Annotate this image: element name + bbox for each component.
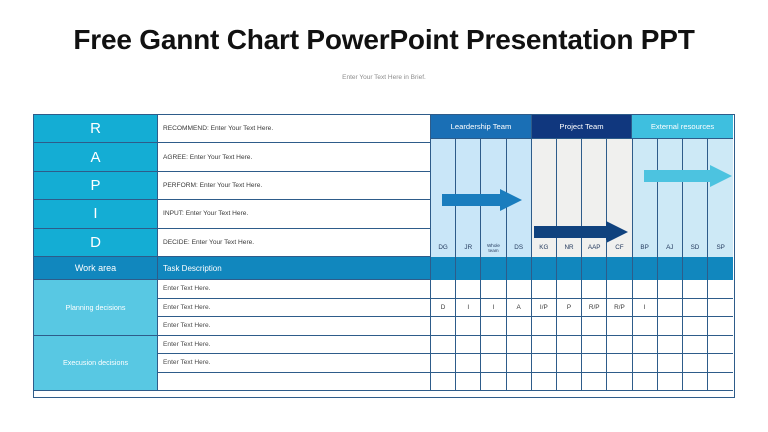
assignment-cell[interactable]: [456, 336, 481, 355]
assignment-cell[interactable]: [607, 280, 632, 299]
assignment-cell[interactable]: [582, 354, 607, 373]
assignment-cell[interactable]: [431, 280, 456, 299]
team-header-project: Project Team: [532, 115, 632, 139]
work-area-header-cell: [481, 257, 506, 280]
assignment-cell[interactable]: [582, 373, 607, 392]
assignment-cell[interactable]: I/P: [532, 299, 557, 318]
assignment-cell[interactable]: [633, 280, 658, 299]
task-row[interactable]: Enter Text Here.: [158, 280, 734, 299]
slide-canvas: Free Gannt Chart PowerPoint Presentation…: [0, 0, 768, 432]
work-area-header-cell: [582, 257, 607, 280]
member-initial-ds: DS: [507, 240, 532, 257]
assignment-cell[interactable]: [456, 373, 481, 392]
work-area-header-cell: [708, 257, 733, 280]
assignment-cell[interactable]: [582, 336, 607, 355]
work-area-header-cell: [683, 257, 708, 280]
assignment-cell[interactable]: [456, 280, 481, 299]
assignment-cell[interactable]: [658, 373, 683, 392]
rapid-letter-r: R: [34, 115, 158, 143]
assignment-cell[interactable]: [532, 336, 557, 355]
assignment-cell[interactable]: [633, 354, 658, 373]
rapid-letter-i: I: [34, 200, 158, 228]
assignment-cell[interactable]: [557, 317, 582, 336]
assignment-cell[interactable]: [607, 373, 632, 392]
assignment-cell[interactable]: [431, 317, 456, 336]
member-initial-aap: AAP: [582, 240, 607, 257]
work-area-header-cell: [557, 257, 582, 280]
assignment-cell[interactable]: [683, 299, 708, 318]
rapid-gantt-table: RRECOMMEND: Enter Your Text Here.AAGREE:…: [33, 114, 735, 398]
team-header-external-label: External resources: [651, 122, 714, 131]
work-area-header-cell: [607, 257, 632, 280]
assignment-cell[interactable]: [507, 373, 532, 392]
assignment-cell[interactable]: [708, 317, 733, 336]
task-description-cell[interactable]: [158, 373, 431, 392]
assignment-cell[interactable]: [683, 336, 708, 355]
member-initial-sd: SD: [683, 240, 708, 257]
rapid-description: PERFORM: Enter Your Text Here.: [158, 172, 431, 200]
rapid-description: AGREE: Enter Your Text Here.: [158, 143, 431, 171]
assignment-cell[interactable]: [708, 299, 733, 318]
rapid-description: RECOMMEND: Enter Your Text Here.: [158, 115, 431, 143]
assignment-cell[interactable]: [607, 317, 632, 336]
assignment-cell[interactable]: [683, 354, 708, 373]
assignment-cell[interactable]: A: [507, 299, 532, 318]
work-group-planning-decisions: Planning decisions: [34, 280, 158, 336]
page-title: Free Gannt Chart PowerPoint Presentation…: [0, 24, 768, 56]
rapid-description: DECIDE: Enter Your Text Here.: [158, 229, 431, 257]
assignment-cell[interactable]: [633, 317, 658, 336]
task-row[interactable]: Enter Text Here.: [158, 354, 734, 373]
assignment-cell[interactable]: [633, 373, 658, 392]
assignment-cell[interactable]: [456, 354, 481, 373]
assignment-cell[interactable]: P: [557, 299, 582, 318]
assignment-cell[interactable]: [532, 280, 557, 299]
assignment-cell[interactable]: [481, 336, 506, 355]
task-description-cell[interactable]: Enter Text Here.: [158, 299, 431, 318]
work-area-header-cell: [633, 257, 658, 280]
assignment-cell[interactable]: [708, 354, 733, 373]
assignment-cell[interactable]: [683, 317, 708, 336]
member-initial-whole-team: Whole team: [481, 240, 506, 257]
work-area-header-cell: [658, 257, 683, 280]
assignment-cell[interactable]: [532, 373, 557, 392]
work-area-header-cell: [532, 257, 557, 280]
task-row[interactable]: [158, 373, 734, 392]
task-description-header-cell: Task Description: [158, 257, 431, 280]
assignment-cell[interactable]: [557, 373, 582, 392]
assignment-cell[interactable]: [431, 336, 456, 355]
work-group-execusion-decisions: Execusion decisions: [34, 336, 158, 392]
assignment-cell[interactable]: [532, 317, 557, 336]
assignment-cell[interactable]: [633, 336, 658, 355]
team-header-external: External resources: [632, 115, 733, 139]
team-columns-section: Leardership Team Project Team External r…: [431, 115, 733, 257]
assignment-cell[interactable]: [607, 354, 632, 373]
assignment-cell[interactable]: [557, 336, 582, 355]
assignment-cell[interactable]: [481, 317, 506, 336]
assignment-cell[interactable]: [431, 373, 456, 392]
work-area-label-cell: Work area: [34, 257, 158, 280]
rapid-letter-a: A: [34, 143, 158, 171]
assignment-cell[interactable]: [431, 354, 456, 373]
assignment-cell[interactable]: I: [456, 299, 481, 318]
member-initial-aj: AJ: [658, 240, 683, 257]
task-description-cell[interactable]: Enter Text Here.: [158, 336, 431, 355]
member-initial-sp: SP: [708, 240, 733, 257]
work-area-header-cell: [431, 257, 456, 280]
task-row[interactable]: Enter Text Here.: [158, 317, 734, 336]
assignment-cell[interactable]: [507, 354, 532, 373]
assignment-cell[interactable]: R/P: [607, 299, 632, 318]
assignment-cell[interactable]: [658, 280, 683, 299]
task-description-label: Task Description: [163, 264, 222, 273]
work-area-label: Work area: [75, 263, 116, 273]
work-area-header-cell: [456, 257, 481, 280]
assignment-cell[interactable]: [658, 336, 683, 355]
assignment-cell[interactable]: [582, 317, 607, 336]
assignment-cell[interactable]: D: [431, 299, 456, 318]
page-subtitle: Enter Your Text Here in Brief.: [0, 74, 768, 81]
assignment-cell[interactable]: [683, 373, 708, 392]
member-initial-kg: KG: [532, 240, 557, 257]
assignment-cell[interactable]: I: [481, 299, 506, 318]
assignment-cell[interactable]: [582, 280, 607, 299]
member-initials-row: DGJRWhole teamDSKGNRAAPCFBPAJSDSP: [431, 240, 733, 257]
assignment-cell[interactable]: [683, 280, 708, 299]
assignment-cell[interactable]: [507, 317, 532, 336]
assignment-cell[interactable]: [658, 317, 683, 336]
team-header-project-label: Project Team: [559, 122, 603, 131]
assignment-cell[interactable]: [557, 354, 582, 373]
rapid-letter-p: P: [34, 172, 158, 200]
team-header-leadership: Leardership Team: [431, 115, 532, 139]
assignment-cell[interactable]: [507, 336, 532, 355]
member-initial-jr: JR: [456, 240, 481, 257]
assignment-cell[interactable]: [456, 317, 481, 336]
work-area-header-columns: [431, 257, 733, 280]
member-initial-cf: CF: [607, 240, 632, 257]
assignment-cell[interactable]: [607, 336, 632, 355]
assignment-cell[interactable]: [532, 354, 557, 373]
assignment-cell[interactable]: [708, 373, 733, 392]
assignment-cell[interactable]: [658, 299, 683, 318]
assignment-cell[interactable]: [481, 373, 506, 392]
work-area-header-row: Work area Task Description: [34, 257, 734, 280]
assignment-cell[interactable]: [708, 336, 733, 355]
assignment-cell[interactable]: [507, 280, 532, 299]
rapid-description: INPUT: Enter Your Text Here.: [158, 200, 431, 228]
rapid-letter-d: D: [34, 229, 158, 257]
member-initial-dg: DG: [431, 240, 456, 257]
assignment-cell[interactable]: [481, 280, 506, 299]
work-area-header-cell: [507, 257, 532, 280]
task-description-cell[interactable]: Enter Text Here.: [158, 317, 431, 336]
assignment-cell[interactable]: R/P: [582, 299, 607, 318]
assignment-cell[interactable]: I: [633, 299, 658, 318]
member-initial-bp: BP: [633, 240, 658, 257]
team-header-leadership-label: Leardership Team: [451, 122, 512, 131]
task-row[interactable]: Enter Text Here.DIIAI/PPR/PR/PI: [158, 299, 734, 318]
assignment-cell[interactable]: [658, 354, 683, 373]
task-description-cell[interactable]: Enter Text Here.: [158, 354, 431, 373]
task-row[interactable]: Enter Text Here.: [158, 336, 734, 355]
assignment-cell[interactable]: [481, 354, 506, 373]
assignment-cell[interactable]: [708, 280, 733, 299]
task-description-cell[interactable]: Enter Text Here.: [158, 280, 431, 299]
assignment-cell[interactable]: [557, 280, 582, 299]
member-initial-nr: NR: [557, 240, 582, 257]
